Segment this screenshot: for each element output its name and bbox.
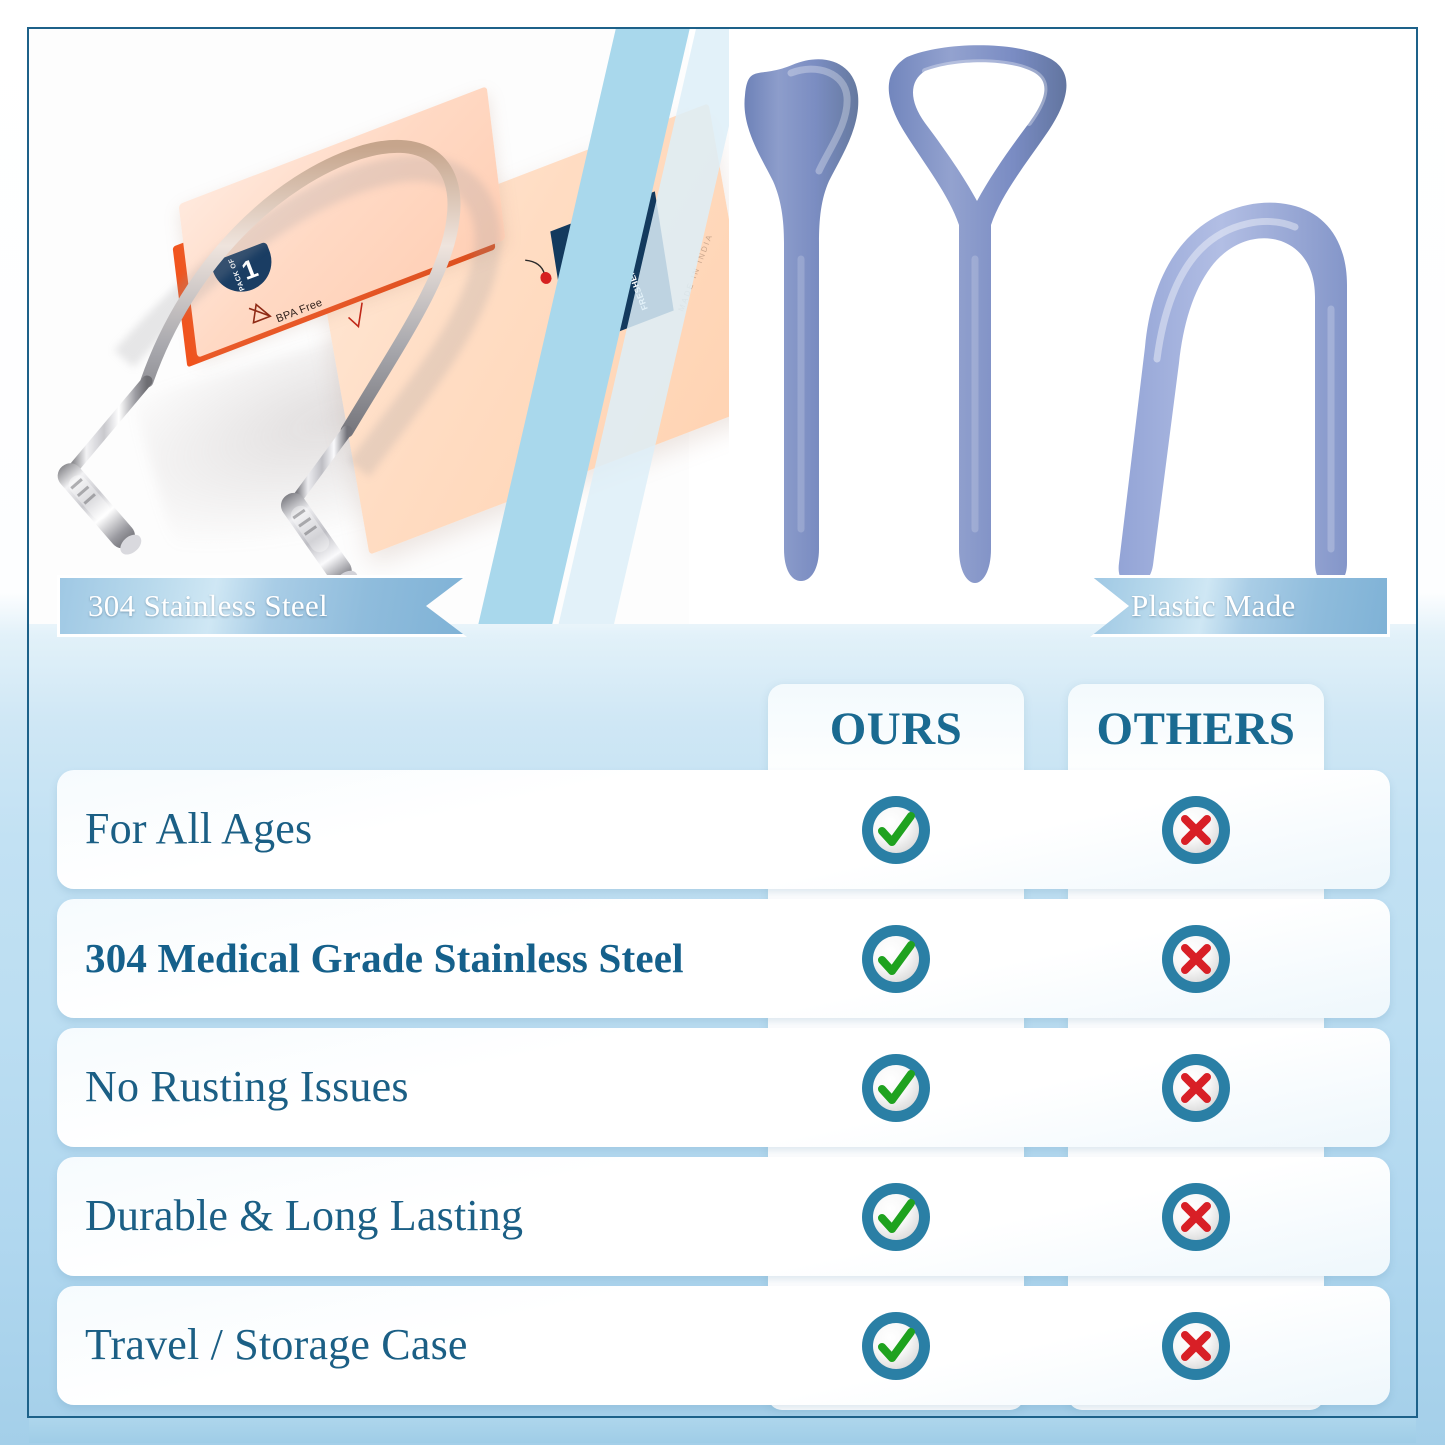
banner-left-label: 304 Stainless Steel [88, 588, 328, 624]
cross-icon [1159, 1180, 1233, 1254]
plastic-scraper-u-shape [1119, 203, 1347, 585]
check-icon [859, 793, 933, 867]
product-comparison-infographic: IMPROVES ORAL HYGIENE FRESHENS BREATH MA… [0, 0, 1445, 1445]
check-icon [859, 1309, 933, 1383]
cross-icon [1159, 793, 1233, 867]
plastic-product-photo [729, 29, 1416, 624]
row-label: 304 Medical Grade Stainless Steel [57, 937, 684, 980]
check-icon [859, 1180, 933, 1254]
check-icon [859, 922, 933, 996]
cross-icon [1159, 1051, 1233, 1125]
plastic-scraper-paddle [744, 59, 858, 581]
column-header-others: OTHERS [1068, 702, 1324, 756]
row-label: Durable & Long Lasting [57, 1193, 523, 1239]
plastic-scrapers-group [729, 29, 1416, 624]
bottom-gradient-band [29, 1418, 1416, 1443]
row-label: For All Ages [57, 806, 312, 852]
plastic-scraper-loop [889, 45, 1067, 583]
banner-right-label: Plastic Made [1131, 588, 1296, 624]
banner-stainless-steel: 304 Stainless Steel [57, 575, 467, 637]
cross-icon [1159, 922, 1233, 996]
row-label: No Rusting Issues [57, 1064, 409, 1110]
column-header-ours: OURS [768, 702, 1024, 756]
banner-plastic-made: Plastic Made [1090, 575, 1390, 637]
row-label: Travel / Storage Case [57, 1322, 468, 1368]
photo-comparison-area: IMPROVES ORAL HYGIENE FRESHENS BREATH MA… [29, 29, 1416, 624]
check-icon [859, 1051, 933, 1125]
cross-icon [1159, 1309, 1233, 1383]
